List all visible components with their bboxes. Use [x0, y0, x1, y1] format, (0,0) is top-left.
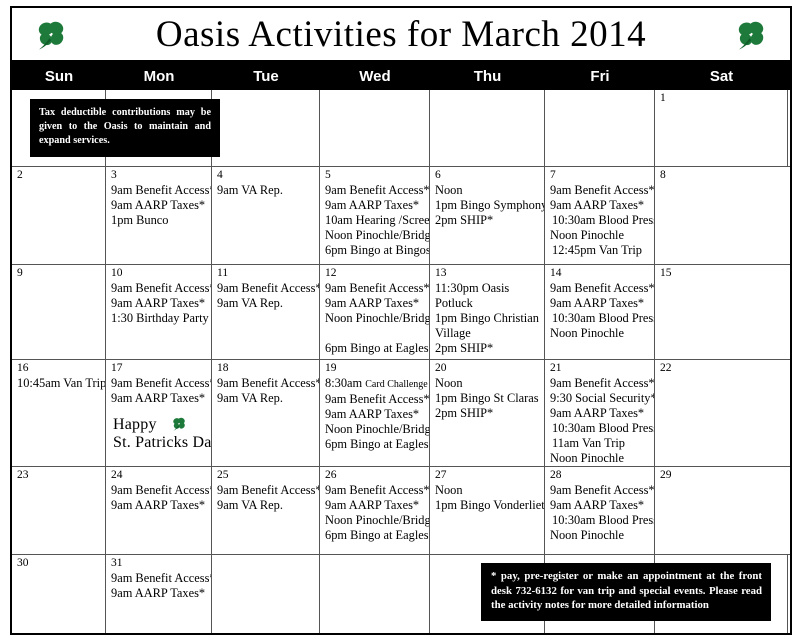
event-item: Noon: [435, 183, 541, 198]
event-item: Potluck: [435, 296, 541, 311]
day-cell-22[interactable]: 22: [655, 360, 788, 466]
day-cell-19[interactable]: 198:30am Card Challenge9am Benefit Acces…: [320, 360, 430, 466]
day-cell-18[interactable]: 189am Benefit Access*9am VA Rep.: [212, 360, 320, 466]
day-number: 31: [111, 557, 208, 570]
event-item: 8:30am Card Challenge: [325, 376, 426, 392]
day-number: 25: [217, 469, 316, 482]
event-item: Noon Pinochle/Bridge: [325, 513, 426, 528]
event-item: Noon Pinochle/Bridge: [325, 228, 426, 243]
day-cell-4[interactable]: 49am VA Rep.: [212, 167, 320, 264]
event-item: 12:45pm Van Trip: [550, 243, 651, 258]
day-number: 24: [111, 469, 208, 482]
event-item: 10am Hearing /Screen*: [325, 213, 426, 228]
day-events: 9am Benefit Access*9am AARP Taxes*: [111, 571, 208, 601]
day-events: 9am Benefit Access*9am AARP Taxes*Noon P…: [325, 281, 426, 356]
event-item: 10:30am Blood Pressure: [550, 513, 651, 528]
day-number: 13: [435, 267, 541, 280]
day-events: 11:30pm OasisPotluck1pm Bingo ChristianV…: [435, 281, 541, 356]
event-item: 9am AARP Taxes*: [550, 498, 651, 513]
weekday-header-row: SunMonTueWedThuFriSat: [10, 62, 792, 90]
day-cell-31[interactable]: 319am Benefit Access*9am AARP Taxes*: [106, 555, 212, 633]
event-item: 9am AARP Taxes*: [550, 296, 651, 311]
calendar-week-row: 30319am Benefit Access*9am AARP Taxes** …: [12, 555, 790, 633]
day-number: 19: [325, 362, 426, 375]
day-number: 8: [660, 169, 785, 182]
event-item: 9am Benefit Access*: [325, 392, 426, 407]
event-item: 9am AARP Taxes*: [550, 406, 651, 421]
event-item: 9am Benefit Access*: [550, 281, 651, 296]
day-number: 3: [111, 169, 208, 182]
event-item: 1pm Bingo St Claras: [435, 391, 541, 406]
event-item: 1pm Bingo Christian: [435, 311, 541, 326]
calendar-week-row: 239am Benefit Access*9am AARP Taxes*1pm …: [12, 167, 790, 265]
event-item: 9am AARP Taxes*: [111, 498, 208, 513]
event-item: 9am Benefit Access*: [111, 183, 208, 198]
day-number: 15: [660, 267, 785, 280]
day-cell-30[interactable]: 30: [12, 555, 106, 633]
calendar-week-row: 1610:45am Van Trip179am Benefit Access*9…: [12, 360, 790, 467]
event-item: Village: [435, 326, 541, 341]
event-item: 9am Benefit Access*: [111, 376, 208, 391]
event-item: 9am Benefit Access*: [550, 376, 651, 391]
day-events: 9am Benefit Access*9am VA Rep.: [217, 281, 316, 311]
day-cell-20[interactable]: 20Noon1pm Bingo St Claras2pm SHIP*: [430, 360, 545, 466]
day-number: 4: [217, 169, 316, 182]
event-item: 9:30 Social Security*: [550, 391, 651, 406]
footnote-notice: * pay, pre-register or make an appointme…: [481, 563, 771, 621]
day-cell-2[interactable]: 2: [12, 167, 106, 264]
event-item: Noon Pinochle: [550, 326, 651, 341]
st-patricks-day-graphic: HappySt. Patricks Day: [113, 416, 212, 456]
calendar-week-row: 23249am Benefit Access*9am AARP Taxes*25…: [12, 467, 790, 555]
event-item: 6pm Bingo at Eagles: [325, 341, 426, 356]
day-number: 7: [550, 169, 651, 182]
event-item: 10:30am Blood Pressure: [550, 213, 651, 228]
day-events: Noon1pm Bingo St Claras2pm SHIP*: [435, 376, 541, 421]
clover-icon: [171, 416, 187, 432]
day-events: 9am Benefit Access*9am AARP Taxes*10am H…: [325, 183, 426, 258]
event-item: 9am Benefit Access*: [550, 183, 651, 198]
event-item: 9am Benefit Access*: [217, 483, 316, 498]
day-number: 12: [325, 267, 426, 280]
day-events: 9am Benefit Access*9am AARP Taxes*: [111, 483, 208, 513]
day-events: 9am Benefit Access*9am VA Rep.: [217, 376, 316, 406]
day-number: 27: [435, 469, 541, 482]
event-item: 9am VA Rep.: [217, 498, 316, 513]
event-item: 9am AARP Taxes*: [111, 391, 208, 406]
event-item: 2pm SHIP*: [435, 341, 541, 356]
event-item: Noon Pinochle: [550, 451, 651, 466]
day-events: 9am Benefit Access*9am AARP Taxes*10:30a…: [550, 281, 651, 341]
day-cell-empty[interactable]: [320, 555, 430, 633]
event-item: 11am Van Trip: [550, 436, 651, 451]
day-cell-empty[interactable]: [212, 555, 320, 633]
day-number: 14: [550, 267, 651, 280]
event-item: 9am AARP Taxes*: [111, 586, 208, 601]
day-cell-empty[interactable]: [320, 90, 430, 166]
day-cell-12[interactable]: 129am Benefit Access*9am AARP Taxes*Noon…: [320, 265, 430, 359]
event-item: 9am Benefit Access*: [111, 281, 208, 296]
day-number: 23: [17, 469, 102, 482]
st-patricks-line-1: Happy: [113, 416, 212, 434]
weekday-header-mon: Mon: [106, 68, 212, 85]
day-number: 9: [17, 267, 102, 280]
day-events: 9am Benefit Access*9am AARP Taxes*: [111, 376, 208, 406]
clover-icon: [734, 18, 768, 52]
day-cell-11[interactable]: 119am Benefit Access*9am VA Rep.: [212, 265, 320, 359]
day-cell-27[interactable]: 27Noon1pm Bingo Vonderlieth: [430, 467, 545, 554]
event-item: 9am AARP Taxes*: [325, 296, 426, 311]
event-item: 9am Benefit Access*: [111, 483, 208, 498]
day-cell-16[interactable]: 1610:45am Van Trip: [12, 360, 106, 466]
event-item: 9am Benefit Access*: [325, 183, 426, 198]
event-item: 9am VA Rep.: [217, 296, 316, 311]
weekday-header-wed: Wed: [320, 68, 430, 85]
day-cell-1[interactable]: 1: [655, 90, 788, 166]
day-cell-29[interactable]: 29: [655, 467, 788, 554]
event-item: 9am Benefit Access*: [325, 483, 426, 498]
day-cell-empty[interactable]: [545, 90, 655, 166]
event-item: 6pm Bingo at Eagles: [325, 437, 426, 452]
event-item: 9am Benefit Access*: [217, 281, 316, 296]
calendar-page: Oasis Activities for March 2014 SunMonTu…: [0, 0, 800, 643]
event-item: 9am AARP Taxes*: [111, 198, 208, 213]
event-item: 9am Benefit Access*: [111, 571, 208, 586]
day-events: 9am Benefit Access*9am VA Rep.: [217, 483, 316, 513]
day-number: 30: [17, 557, 102, 570]
day-cell-13[interactable]: 1311:30pm OasisPotluck1pm Bingo Christia…: [430, 265, 545, 359]
calendar-week-row: 9109am Benefit Access*9am AARP Taxes*1:3…: [12, 265, 790, 360]
title-banner: Oasis Activities for March 2014: [10, 6, 792, 62]
event-item: 9am VA Rep.: [217, 391, 316, 406]
day-events: Noon1pm Bingo Symphony2pm SHIP*: [435, 183, 541, 228]
day-number: 29: [660, 469, 785, 482]
weekday-header-sun: Sun: [12, 68, 106, 85]
day-cell-5[interactable]: 59am Benefit Access*9am AARP Taxes*10am …: [320, 167, 430, 264]
calendar-grid: 1Tax deductible contributions may be giv…: [10, 90, 792, 635]
event-spacer: [325, 326, 426, 341]
weekday-header-fri: Fri: [545, 68, 655, 85]
day-number: 16: [17, 362, 102, 375]
day-cell-26[interactable]: 269am Benefit Access*9am AARP Taxes*Noon…: [320, 467, 430, 554]
event-item: 11:30pm Oasis: [435, 281, 541, 296]
event-item: 9am AARP Taxes*: [325, 498, 426, 513]
day-events: 10:45am Van Trip: [17, 376, 102, 391]
day-number: 5: [325, 169, 426, 182]
day-cell-17[interactable]: 179am Benefit Access*9am AARP Taxes*Happ…: [106, 360, 212, 466]
day-events: 8:30am Card Challenge9am Benefit Access*…: [325, 376, 426, 452]
event-item: Noon Pinochle: [550, 528, 651, 543]
event-item: Noon: [435, 376, 541, 391]
event-item: 9am AARP Taxes*: [325, 198, 426, 213]
event-item: 9am AARP Taxes*: [325, 407, 426, 422]
day-number: 10: [111, 267, 208, 280]
event-item: 9am Benefit Access*: [217, 376, 316, 391]
day-number: 6: [435, 169, 541, 182]
day-cell-8[interactable]: 8: [655, 167, 788, 264]
day-cell-9[interactable]: 9: [12, 265, 106, 359]
weekday-header-thu: Thu: [430, 68, 545, 85]
event-item: 1:30 Birthday Party: [111, 311, 208, 326]
day-number: 1: [660, 92, 784, 105]
event-item: 9am AARP Taxes*: [111, 296, 208, 311]
day-number: 2: [17, 169, 102, 182]
day-cell-7[interactable]: 79am Benefit Access*9am AARP Taxes*10:30…: [545, 167, 655, 264]
page-title: Oasis Activities for March 2014: [156, 16, 646, 53]
day-cell-15[interactable]: 15: [655, 265, 788, 359]
day-cell-6[interactable]: 6Noon1pm Bingo Symphony2pm SHIP*: [430, 167, 545, 264]
day-events: 9am Benefit Access*9:30 Social Security*…: [550, 376, 651, 466]
day-cell-empty[interactable]: [212, 90, 320, 166]
event-item: 9am Benefit Access*: [325, 281, 426, 296]
day-events: 9am Benefit Access*9am AARP Taxes*1:30 B…: [111, 281, 208, 326]
event-item: Noon: [435, 483, 541, 498]
event-item: 6pm Bingo at Eagles: [325, 528, 426, 543]
clover-icon: [34, 18, 68, 52]
day-cell-14[interactable]: 149am Benefit Access*9am AARP Taxes*10:3…: [545, 265, 655, 359]
day-number: 17: [111, 362, 208, 375]
day-number: 21: [550, 362, 651, 375]
day-events: 9am VA Rep.: [217, 183, 316, 198]
st-patricks-line-2: St. Patricks Day: [113, 434, 212, 452]
event-item: 10:30am Blood Pressure: [550, 311, 651, 326]
day-number: 18: [217, 362, 316, 375]
tax-deductible-notice: Tax deductible contributions may be give…: [30, 99, 220, 157]
day-cell-21[interactable]: 219am Benefit Access*9:30 Social Securit…: [545, 360, 655, 466]
calendar-week-row: 1Tax deductible contributions may be giv…: [12, 90, 790, 167]
event-item: Noon Pinochle: [550, 228, 651, 243]
day-number: 11: [217, 267, 316, 280]
event-item: 1pm Bingo Vonderlieth: [435, 498, 541, 513]
day-cell-3[interactable]: 39am Benefit Access*9am AARP Taxes*1pm B…: [106, 167, 212, 264]
day-events: 9am Benefit Access*9am AARP Taxes*10:30a…: [550, 183, 651, 258]
day-cell-23[interactable]: 23: [12, 467, 106, 554]
day-cell-24[interactable]: 249am Benefit Access*9am AARP Taxes*: [106, 467, 212, 554]
day-events: Noon1pm Bingo Vonderlieth: [435, 483, 541, 513]
event-item: 1pm Bingo Symphony: [435, 198, 541, 213]
day-events: 9am Benefit Access*9am AARP Taxes*10:30a…: [550, 483, 651, 543]
event-item: 10:45am Van Trip: [17, 376, 102, 391]
event-item: 9am AARP Taxes*: [550, 198, 651, 213]
day-number: 22: [660, 362, 785, 375]
day-number: 26: [325, 469, 426, 482]
day-cell-10[interactable]: 109am Benefit Access*9am AARP Taxes*1:30…: [106, 265, 212, 359]
event-item: Noon Pinochle/Bridge: [325, 311, 426, 326]
weekday-header-tue: Tue: [212, 68, 320, 85]
event-item: 2pm SHIP*: [435, 213, 541, 228]
day-events: 9am Benefit Access*9am AARP Taxes*1pm Bu…: [111, 183, 208, 228]
weekday-header-sat: Sat: [655, 68, 788, 85]
day-cell-28[interactable]: 289am Benefit Access*9am AARP Taxes*10:3…: [545, 467, 655, 554]
event-item: 9am VA Rep.: [217, 183, 316, 198]
event-item: 9am Benefit Access*: [550, 483, 651, 498]
event-item: 2pm SHIP*: [435, 406, 541, 421]
event-item: 6pm Bingo at Bingos: [325, 243, 426, 258]
day-events: 9am Benefit Access*9am AARP Taxes*Noon P…: [325, 483, 426, 543]
event-item: 1pm Bunco: [111, 213, 208, 228]
day-number: 20: [435, 362, 541, 375]
day-number: 28: [550, 469, 651, 482]
day-cell-empty[interactable]: [430, 90, 545, 166]
event-item: Noon Pinochle/Bridge: [325, 422, 426, 437]
day-cell-25[interactable]: 259am Benefit Access*9am VA Rep.: [212, 467, 320, 554]
event-item: 10:30am Blood Pressure: [550, 421, 651, 436]
